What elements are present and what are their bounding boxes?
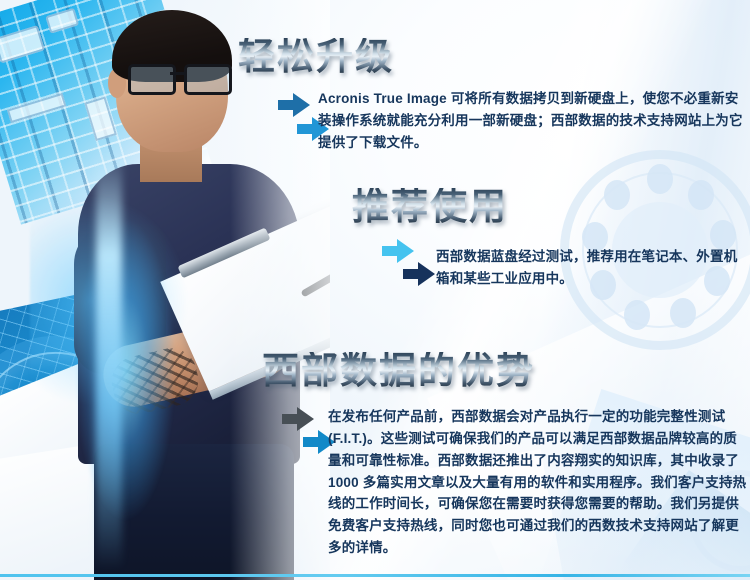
section-heading: 推荐使用 — [352, 188, 750, 225]
section-body: 西部数据蓝盘经过测试，推荐用在笔记本、外置机箱和某些工业应用中。 — [436, 246, 748, 290]
hero-photo — [0, 0, 330, 580]
section-heading: 轻松升级 — [238, 38, 736, 75]
section-wd-advantages: 西部数据的优势 在发布任何产品前，西部数据会对产品执行一定的功能完整性测试 (F… — [262, 352, 750, 389]
promo-banner: 轻松升级 Acronis True Image 可将所有数据拷贝到新硬盘上，使您… — [0, 0, 750, 580]
section-heading: 西部数据的优势 — [262, 352, 750, 389]
double-arrow-icon — [380, 236, 442, 294]
person-jeans — [94, 444, 294, 580]
section-body: 在发布任何产品前，西部数据会对产品执行一定的功能完整性测试 (F.I.T.)。这… — [328, 406, 748, 559]
arrow-right-icon — [401, 259, 439, 289]
section-easy-upgrade: 轻松升级 Acronis True Image 可将所有数据拷贝到新硬盘上，使您… — [236, 38, 736, 75]
section-recommended-use: 推荐使用 西部数据蓝盘经过测试，推荐用在笔记本、外置机箱和某些工业应用中。 — [352, 188, 750, 225]
section-body: Acronis True Image 可将所有数据拷贝到新硬盘上，使您不必重新安… — [318, 88, 746, 154]
bottom-accent-rule — [0, 574, 750, 577]
eyeglasses — [128, 64, 232, 90]
